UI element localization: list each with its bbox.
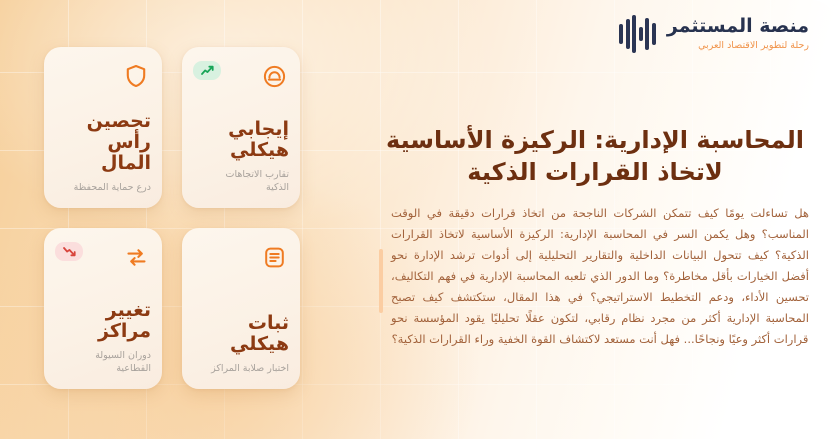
card-body: تغيير مراكز دوران السيولة القطاعية — [44, 300, 162, 375]
trend-up-arrow-icon — [201, 65, 214, 76]
card-body: إيجابي هيكلي تقارب الاتجاهات الذكية — [182, 119, 300, 194]
trend-down-badge — [55, 242, 83, 261]
excerpt-scrollbar[interactable] — [379, 249, 383, 313]
trend-up-badge — [193, 61, 221, 80]
logo-bar — [632, 15, 636, 53]
shield-icon — [124, 64, 148, 88]
logo-bar — [652, 23, 656, 45]
card-title: تغيير مراكز — [55, 300, 151, 342]
article-excerpt: هل تساءلت يومًا كيف تتمكن الشركات الناجح… — [379, 203, 809, 349]
logo-bar — [645, 18, 649, 50]
card-subtitle: دوران السيولة القطاعية — [55, 349, 151, 375]
equalizer-bars-icon — [619, 14, 656, 54]
logo-bar — [619, 24, 623, 44]
logo-bar — [626, 19, 630, 49]
trend-down-arrow-icon — [63, 246, 76, 257]
card-title: تحصين رأس المال — [55, 111, 151, 174]
logo-bar — [639, 27, 643, 41]
card-title: ثبات هيكلي — [193, 313, 289, 355]
card-subtitle: تقارب الاتجاهات الذكية — [193, 168, 289, 194]
circle-bowl-icon — [262, 64, 286, 88]
card-body: تحصين رأس المال درع حماية المحفظة — [44, 111, 162, 194]
exchange-arrows-icon — [124, 245, 148, 269]
card-subtitle: اختبار صلابة المراكز — [193, 362, 289, 375]
card-structural-stability[interactable]: ثبات هيكلي اختبار صلابة المراكز — [182, 228, 300, 389]
brand-text-block: منصة المستثمر رحلة لتطوير الاقتصاد العرب… — [667, 16, 809, 53]
card-title: إيجابي هيكلي — [193, 119, 289, 161]
card-body: ثبات هيكلي اختبار صلابة المراكز — [182, 313, 300, 375]
page-title: المحاسبة الإدارية: الركيزة الأساسية لاتخ… — [381, 124, 809, 188]
document-lines-icon — [262, 245, 286, 269]
card-structural-positive[interactable]: إيجابي هيكلي تقارب الاتجاهات الذكية — [182, 47, 300, 208]
card-capital-protection[interactable]: تحصين رأس المال درع حماية المحفظة — [44, 47, 162, 208]
brand-name: منصة المستثمر — [667, 16, 809, 37]
card-position-change[interactable]: تغيير مراكز دوران السيولة القطاعية — [44, 228, 162, 389]
brand-header[interactable]: منصة المستثمر رحلة لتطوير الاقتصاد العرب… — [619, 14, 809, 54]
slide-canvas: تحصين رأس المال درع حماية المحفظة — [0, 0, 837, 439]
card-subtitle: درع حماية المحفظة — [55, 181, 151, 194]
brand-tagline: رحلة لتطوير الاقتصاد العربي — [667, 40, 809, 52]
metric-card-grid: تحصين رأس المال درع حماية المحفظة — [44, 47, 300, 392]
article-excerpt-panel: هل تساءلت يومًا كيف تتمكن الشركات الناجح… — [379, 203, 809, 389]
